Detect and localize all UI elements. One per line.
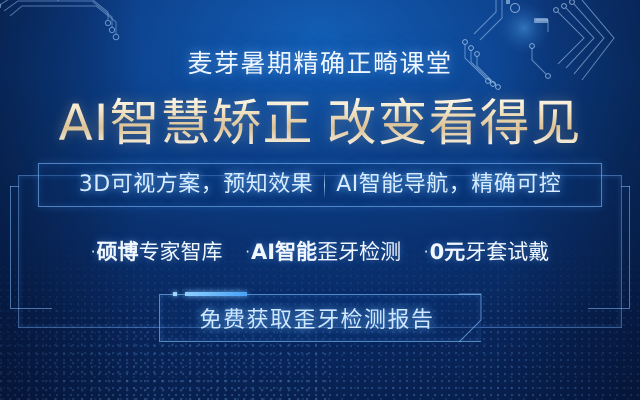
headline-left: AI智慧矫正: [59, 94, 314, 152]
list-item: ·硕博专家智库: [91, 240, 223, 264]
list-item: ·0元牙套试戴: [424, 240, 549, 264]
bullet-dot-icon: ·: [424, 243, 429, 261]
frame-notch-bottom-left: [10, 308, 52, 309]
list-item-rest: 牙套试戴: [465, 240, 549, 264]
bullet-dot-icon: ·: [245, 243, 250, 261]
headline-right: 改变看得见: [326, 94, 581, 152]
bullet-dot-icon: ·: [91, 243, 96, 261]
list-item: ·AI智能歪牙检测: [245, 240, 401, 264]
list-item-rest: 歪牙检测: [317, 240, 401, 264]
frame-notch-left: [10, 186, 19, 187]
slogan-left: 3D可视方案，预知效果: [79, 172, 313, 198]
list-item-rest: 专家智库: [139, 240, 223, 264]
frame-notch-left-vertical: [10, 186, 11, 308]
circuit-trace-icon: [0, 0, 146, 54]
frame-notch-right-vertical: [629, 186, 630, 308]
list-item-strong: 硕博: [97, 240, 139, 264]
cta-label: 免费获取歪牙检测报告: [159, 294, 481, 342]
list-item-strong: AI智能: [251, 240, 317, 264]
list-item-strong: 0元: [430, 240, 466, 264]
cta-button[interactable]: 免费获取歪牙检测报告: [159, 294, 481, 342]
slogan-right: AI智能导航，精确可控: [336, 172, 561, 198]
feature-list: ·硕博专家智库 ·AI智能歪牙检测 ·0元牙套试戴: [0, 238, 640, 266]
frame-notch-bottom-right: [588, 308, 630, 309]
page-subtitle: 麦芽暑期精确正畸课堂: [0, 49, 640, 79]
promo-banner: 麦芽暑期精确正畸课堂 AI智慧矫正改变看得见 3D可视方案，预知效果 AI智能导…: [0, 0, 640, 400]
slogan-divider: [324, 171, 325, 199]
slogan-box: 3D可视方案，预知效果 AI智能导航，精确可控: [38, 163, 602, 207]
page-title: AI智慧矫正改变看得见: [0, 93, 640, 153]
